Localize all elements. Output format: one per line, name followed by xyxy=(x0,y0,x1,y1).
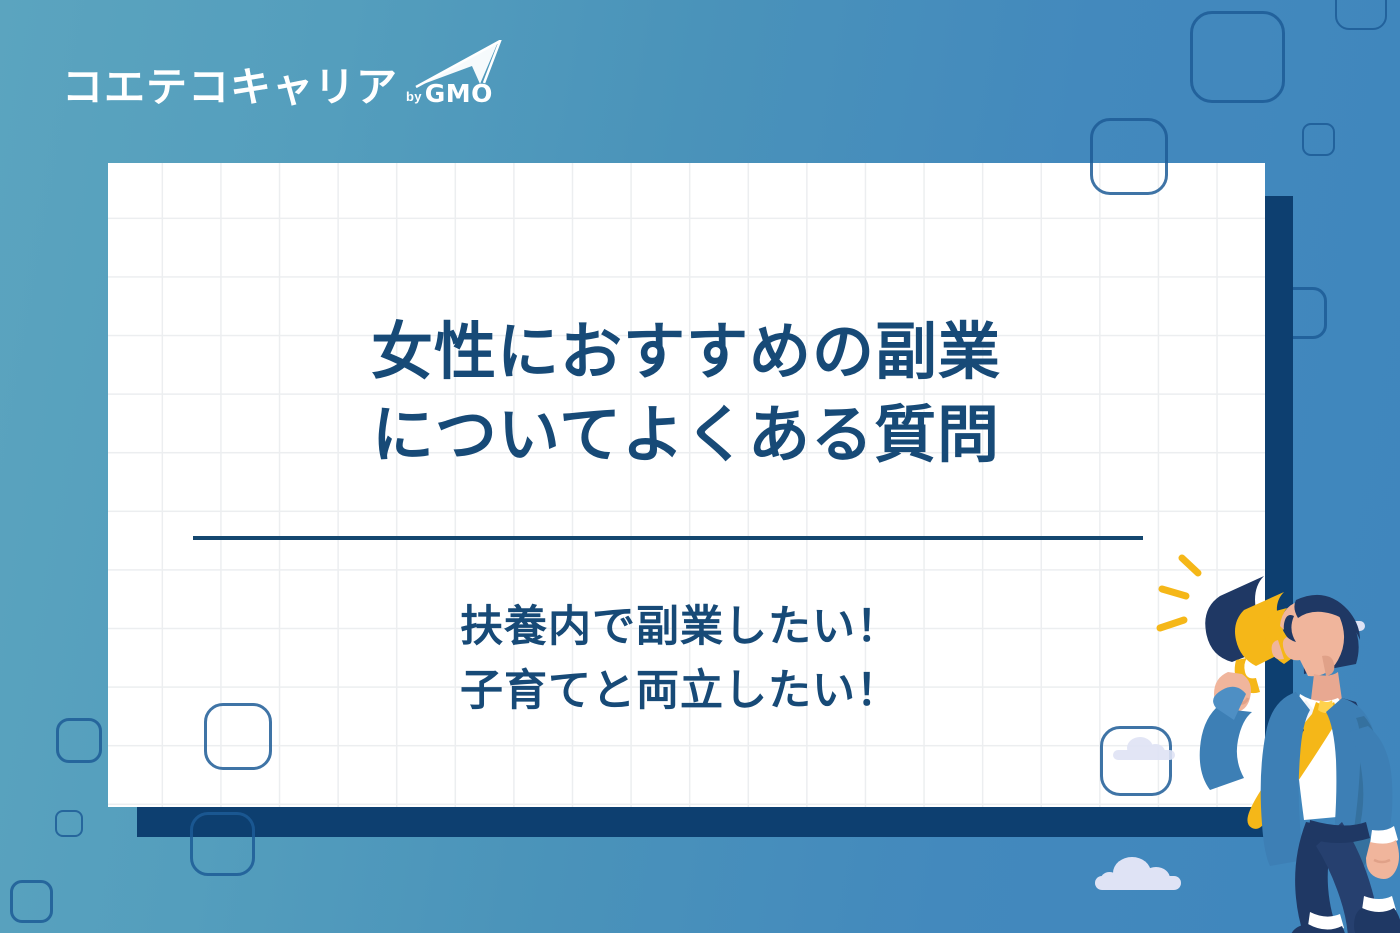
logo-text: コエテコキャリア xyxy=(62,67,398,108)
deco-square-bl-1 xyxy=(56,718,102,763)
deco-square-ml-1 xyxy=(1090,118,1168,195)
page-title: 女性におすすめの副業 についてよくある質問 xyxy=(0,310,1400,476)
headline-line-2: についてよくある質問 xyxy=(0,393,1372,476)
megaphone-sound-lines xyxy=(1160,558,1198,628)
logo-gmo-label: GMO xyxy=(425,79,493,108)
megaphone-icon xyxy=(1205,576,1298,693)
poster-canvas: コエテコキャリア by GMO 女性におすすめの副業 についてよくある質問 扶養… xyxy=(0,0,1400,933)
deco-square-tr-3 xyxy=(1302,123,1335,156)
deco-square-tr-1 xyxy=(1190,11,1285,103)
headline-line-1: 女性におすすめの副業 xyxy=(0,310,1372,393)
deco-square-tr-2 xyxy=(1335,0,1387,30)
site-logo[interactable]: コエテコキャリア by GMO xyxy=(62,48,493,108)
deco-square-bl-3 xyxy=(10,880,53,923)
title-divider xyxy=(193,536,1143,540)
deco-square-bl-2 xyxy=(55,810,83,837)
deco-square-bl-4 xyxy=(190,812,255,876)
man-with-megaphone-illustration xyxy=(1120,530,1400,933)
logo-by-label: by xyxy=(406,89,422,104)
